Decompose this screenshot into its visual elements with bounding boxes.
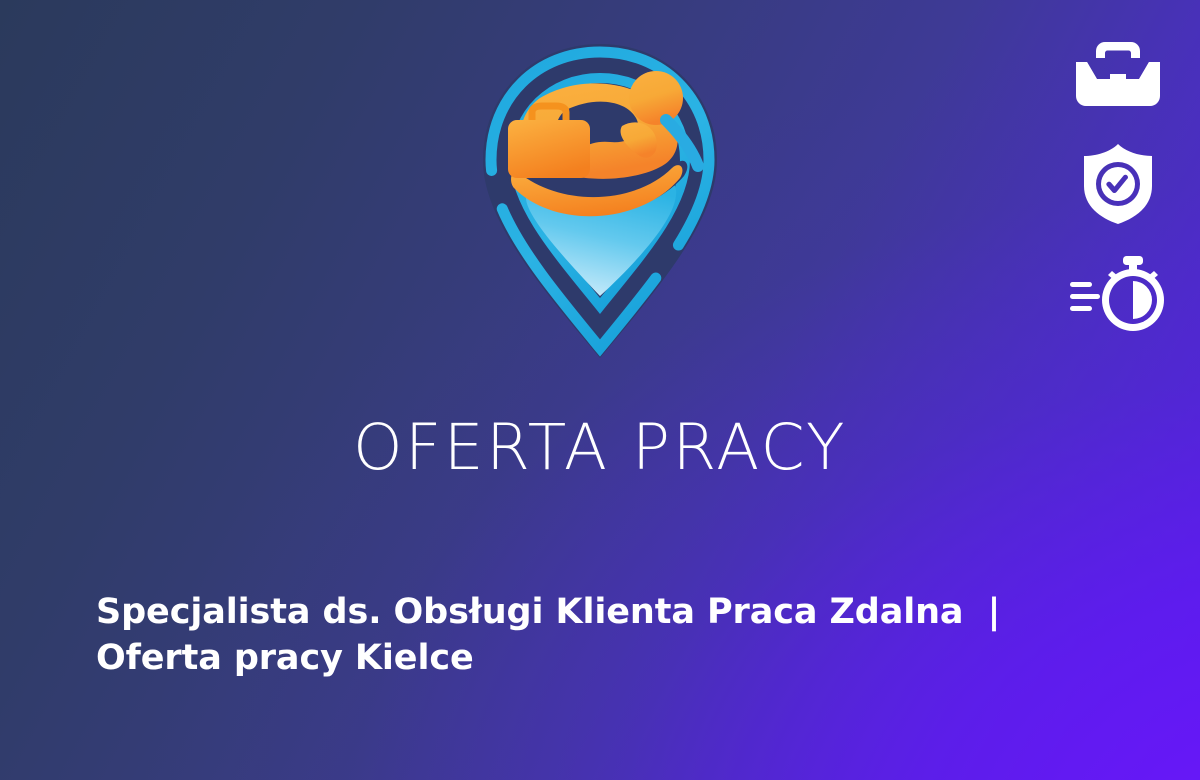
icon-slot-stopwatch (1066, 252, 1170, 336)
job-offer-banner: OFERTA PRACY Specjalista ds. Obsługi Kli… (0, 0, 1200, 780)
worker-head (629, 71, 683, 125)
icon-slot-shield (1066, 142, 1170, 226)
feature-icon-column (1058, 32, 1178, 336)
page-title: Specjalista ds. Obsługi Klienta Praca Zd… (96, 590, 1126, 681)
page-eyebrow: OFERTA PRACY (0, 416, 1200, 479)
shield-check-icon (1080, 142, 1156, 226)
briefcase-icon (1072, 38, 1164, 110)
location-pin-worker-logo (470, 38, 730, 368)
brand-logo (0, 38, 1200, 368)
icon-slot-briefcase (1066, 32, 1170, 116)
stopwatch-icon (1068, 254, 1168, 334)
briefcase-body (508, 120, 590, 178)
